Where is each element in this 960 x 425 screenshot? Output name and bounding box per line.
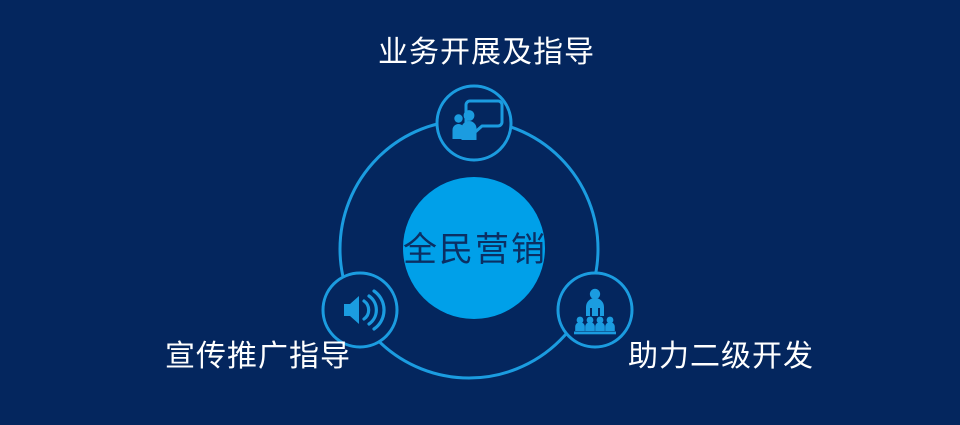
node-circle-left <box>323 273 397 347</box>
node-label-business-development: 业务开展及指导 <box>378 36 595 70</box>
center-title: 全民营销 <box>403 231 545 269</box>
node-label-secondary-development: 助力二级开发 <box>628 340 814 374</box>
node-promotion-guidance[interactable] <box>323 273 397 347</box>
node-secondary-development[interactable] <box>558 273 632 347</box>
node-business-development[interactable] <box>437 86 511 160</box>
infographic-canvas: 全民营销 业务开展及指导 宣传推广指导 助力二级开发 <box>0 0 960 425</box>
node-label-promotion-guidance: 宣传推广指导 <box>165 340 351 374</box>
